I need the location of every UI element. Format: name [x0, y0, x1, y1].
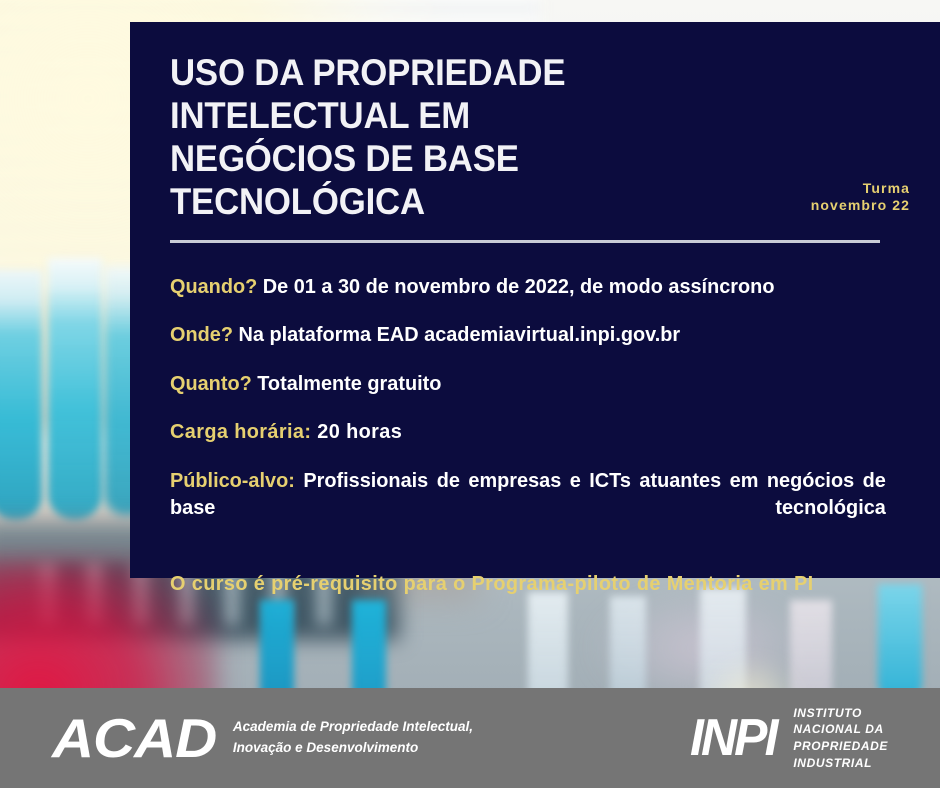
turma-badge: Turma novembro 22: [811, 180, 910, 224]
detail-value-onde: Na plataforma EAD academiavirtual.inpi.g…: [233, 323, 680, 346]
acad-logo: ACAD Academia de Propriedade Intelectual…: [52, 711, 473, 766]
poster-canvas: USO DA PROPRIEDADE INTELECTUAL EM NEGÓCI…: [0, 0, 940, 788]
detail-label-quanto: Quanto?: [170, 372, 252, 395]
footer-logos: ACAD Academia de Propriedade Intelectual…: [0, 705, 940, 771]
acad-wordmark: ACAD: [52, 711, 216, 766]
acad-subtitle-line-1: Academia de Propriedade Intelectual,: [233, 717, 473, 738]
detail-label-publico-alvo: Público-alvo:: [170, 469, 295, 492]
detail-row-publico-alvo: Público-alvo: Profissionais de empresas …: [170, 467, 886, 549]
content-panel-inner: USO DA PROPRIEDADE INTELECTUAL EM NEGÓCI…: [130, 22, 940, 597]
detail-value-quanto: Totalmente gratuito: [252, 372, 442, 395]
detail-value-carga-horaria: 20 horas: [311, 420, 402, 443]
acad-subtitle: Academia de Propriedade Intelectual, Ino…: [233, 717, 473, 759]
test-tube-bottom-3: [878, 584, 922, 704]
detail-row-carga-horaria: Carga horária: 20 horas: [170, 418, 886, 445]
detail-value-quando: De 01 a 30 de novembro de 2022, de modo …: [257, 275, 774, 298]
detail-row-note: O curso é pré-requisito para o Programa-…: [170, 570, 886, 597]
acad-subtitle-line-2: Inovação e Desenvolvimento: [233, 738, 473, 759]
test-tube-left-1: [0, 270, 42, 520]
detail-label-quando: Quando?: [170, 275, 257, 298]
inpi-subtitle-line-4: INDUSTRIAL: [793, 755, 888, 772]
turma-badge-line-2: novembro 22: [811, 197, 910, 215]
detail-row-quanto: Quanto? Totalmente gratuito: [170, 370, 886, 397]
inpi-subtitle-line-1: INSTITUTO: [793, 705, 888, 722]
inpi-subtitle-line-3: PROPRIEDADE: [793, 738, 888, 755]
title-line-2: NEGÓCIOS DE BASE TECNOLÓGICA: [170, 138, 763, 224]
detail-label-onde: Onde?: [170, 323, 233, 346]
detail-row-quando: Quando? De 01 a 30 de novembro de 2022, …: [170, 273, 886, 300]
inpi-wordmark: INPI: [690, 712, 776, 764]
title-row: USO DA PROPRIEDADE INTELECTUAL EM NEGÓCI…: [170, 52, 910, 224]
footer-bar: ACAD Academia de Propriedade Intelectual…: [0, 688, 940, 788]
title-line-1: USO DA PROPRIEDADE INTELECTUAL EM: [170, 52, 565, 136]
title-divider: [170, 240, 880, 243]
detail-row-onde: Onde? Na plataforma EAD academiavirtual.…: [170, 321, 886, 348]
page-title: USO DA PROPRIEDADE INTELECTUAL EM NEGÓCI…: [170, 52, 763, 224]
test-tube-left-2: [48, 258, 102, 520]
turma-badge-line-1: Turma: [811, 180, 910, 198]
inpi-subtitle: INSTITUTO NACIONAL DA PROPRIEDADE INDUST…: [793, 705, 888, 771]
inpi-subtitle-line-2: NACIONAL DA: [793, 721, 888, 738]
detail-label-carga-horaria: Carga horária:: [170, 420, 311, 443]
details-list: Quando? De 01 a 30 de novembro de 2022, …: [170, 273, 910, 598]
inpi-logo: INPI INSTITUTO NACIONAL DA PROPRIEDADE I…: [690, 705, 888, 771]
content-panel: USO DA PROPRIEDADE INTELECTUAL EM NEGÓCI…: [130, 22, 940, 578]
